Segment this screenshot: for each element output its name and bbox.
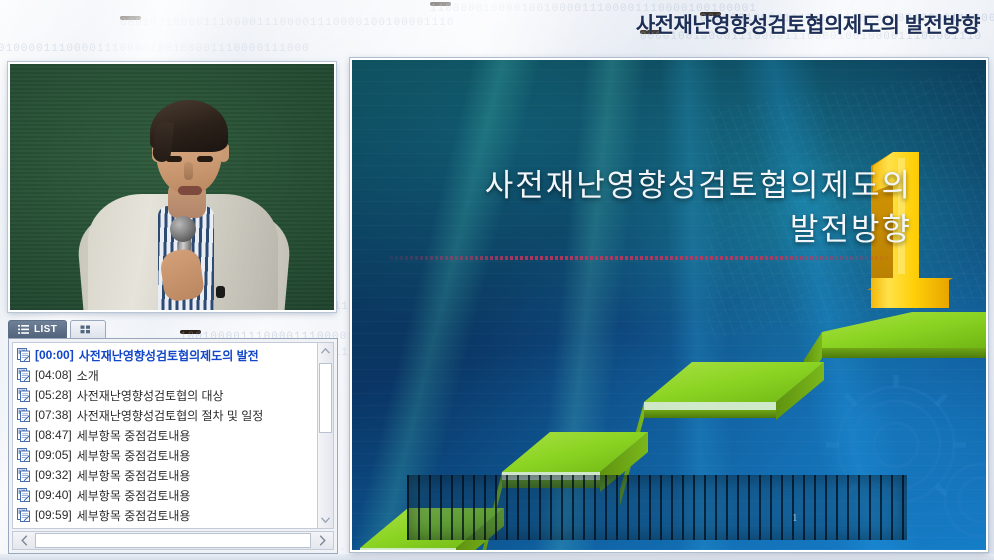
list-item-title: 소개 [77, 367, 99, 384]
list-item[interactable]: P [09:59] 세부항목 중점검토내용 [13, 505, 317, 525]
lecturer-figure [10, 64, 334, 310]
playlist-scroll-area[interactable]: P [00:00] 사전재난영향성검토협의제도 [12, 342, 317, 529]
slide-doc-icon: P [17, 408, 30, 422]
scroll-down-arrow-icon[interactable] [318, 512, 333, 528]
list-item-title: 사전재난영향성검토협의 절차 및 일정 [77, 407, 264, 424]
list-item-title: 세부항목 중점검토내용 [77, 427, 191, 444]
list-item[interactable]: P [00:00] 사전재난영향성검토협의제도 [13, 345, 317, 365]
list-item[interactable]: P [09:05] 세부항목 중점검토내용 [13, 445, 317, 465]
slide-doc-icon: P [17, 388, 30, 402]
vertical-scroll-thumb[interactable] [319, 363, 332, 433]
presentation-slide: 사전재난영향성검토협의제도의 발전방향 1 [352, 60, 986, 550]
slide-page-number: 1 [792, 512, 798, 524]
playlist-listbox: P [00:00] 사전재난영향성검토협의제도 [8, 338, 338, 554]
list-item-title: 세부항목 중점검토내용 [77, 447, 191, 464]
slide-title: 사전재난영향성검토협의제도의 발전방향 [392, 164, 912, 252]
list-item[interactable]: P [07:38] 사전재난영향성검토협의 절차 및 일정 [13, 405, 317, 425]
slide-doc-icon: P [17, 368, 30, 382]
list-item[interactable]: P [09:40] 세부항목 중점검토내용 [13, 485, 317, 505]
list-item[interactable]: P [05:28] 사전재난영향성검토협의 대상 [13, 385, 317, 405]
list-item-title: 세부항목 중점검토내용 [77, 487, 191, 504]
list-item-time: [09:59] [35, 508, 72, 522]
playlist-list-inner: P [00:00] 사전재난영향성검토협의제도 [12, 342, 334, 529]
list-item-title: 사전재난영향성검토협의 대상 [77, 387, 224, 404]
lapel-microphone [216, 286, 225, 298]
list-item[interactable]: P [04:08] 소개 [13, 365, 317, 385]
list-item-title: 세부항목 중점검토내용 [77, 467, 191, 484]
lecturer-nose [184, 162, 193, 180]
slide-doc-icon: P [17, 348, 30, 362]
tab-list[interactable]: LIST [8, 320, 67, 338]
horizontal-scroll-thumb[interactable] [35, 533, 311, 548]
list-item-time: [07:38] [35, 408, 72, 422]
playlist-items: P [00:00] 사전재난영향성검토협의제도 [13, 343, 317, 529]
scroll-right-arrow-icon[interactable] [311, 532, 333, 549]
slide-viewer[interactable]: 사전재난영향성검토협의제도의 발전방향 1 [350, 58, 988, 552]
list-item[interactable]: P [10:12] 세부항목 중점검토내용 [13, 525, 317, 529]
list-item-time: [09:40] [35, 488, 72, 502]
list-item[interactable]: P [09:32] 세부항목 중점검토내용 [13, 465, 317, 485]
slide-doc-icon: P [17, 488, 30, 502]
list-item-time: [09:32] [35, 468, 72, 482]
page-title: 사전재난영향성검토협의제도의 발전방향 [636, 9, 980, 39]
slide-doc-icon: P [17, 528, 30, 529]
list-item-time: [10:12] [35, 528, 72, 529]
list-icon [18, 325, 29, 334]
scroll-left-arrow-icon[interactable] [13, 532, 35, 549]
lecture-video-player[interactable] [8, 62, 336, 312]
list-item-time: [00:00] [35, 348, 74, 362]
lecturer-mouth [178, 186, 202, 195]
slide-doc-icon: P [17, 448, 30, 462]
scroll-up-arrow-icon[interactable] [318, 343, 333, 359]
list-item-title: 세부항목 중점검토내용 [77, 507, 191, 524]
list-item-time: [05:28] [35, 388, 72, 402]
horizontal-scroll-track[interactable] [35, 532, 311, 549]
microphone-head [170, 216, 196, 242]
slide-barcode-panel [407, 475, 907, 540]
playlist-horizontal-scrollbar[interactable] [12, 531, 334, 550]
slide-title-underline [390, 256, 890, 260]
slide-doc-icon: P [17, 508, 30, 522]
list-item-title: 세부항목 중점검토내용 [77, 527, 191, 530]
playlist-panel: LIST [8, 320, 338, 554]
slide-doc-icon: P [17, 428, 30, 442]
playlist-tabbar: LIST [8, 320, 338, 338]
list-item-title: 사전재난영향성검토협의제도의 발전 [79, 347, 259, 364]
footer-strip [0, 554, 994, 560]
vertical-scroll-track[interactable] [318, 359, 333, 512]
tab-grid[interactable] [70, 320, 106, 338]
lecturer-hair [150, 100, 228, 152]
slide-doc-icon: P [17, 468, 30, 482]
tab-list-label: LIST [34, 324, 57, 335]
playlist-vertical-scrollbar[interactable] [317, 342, 334, 529]
list-item-time: [04:08] [35, 368, 72, 382]
page-header: 사전재난영향성검토협의제도의 발전방향 [0, 0, 994, 48]
list-item-time: [08:47] [35, 428, 72, 442]
list-item[interactable]: P [08:47] 세부항목 중점검토내용 [13, 425, 317, 445]
lecturer-eye-right [197, 156, 213, 162]
grid-icon [80, 325, 91, 334]
list-item-time: [09:05] [35, 448, 72, 462]
